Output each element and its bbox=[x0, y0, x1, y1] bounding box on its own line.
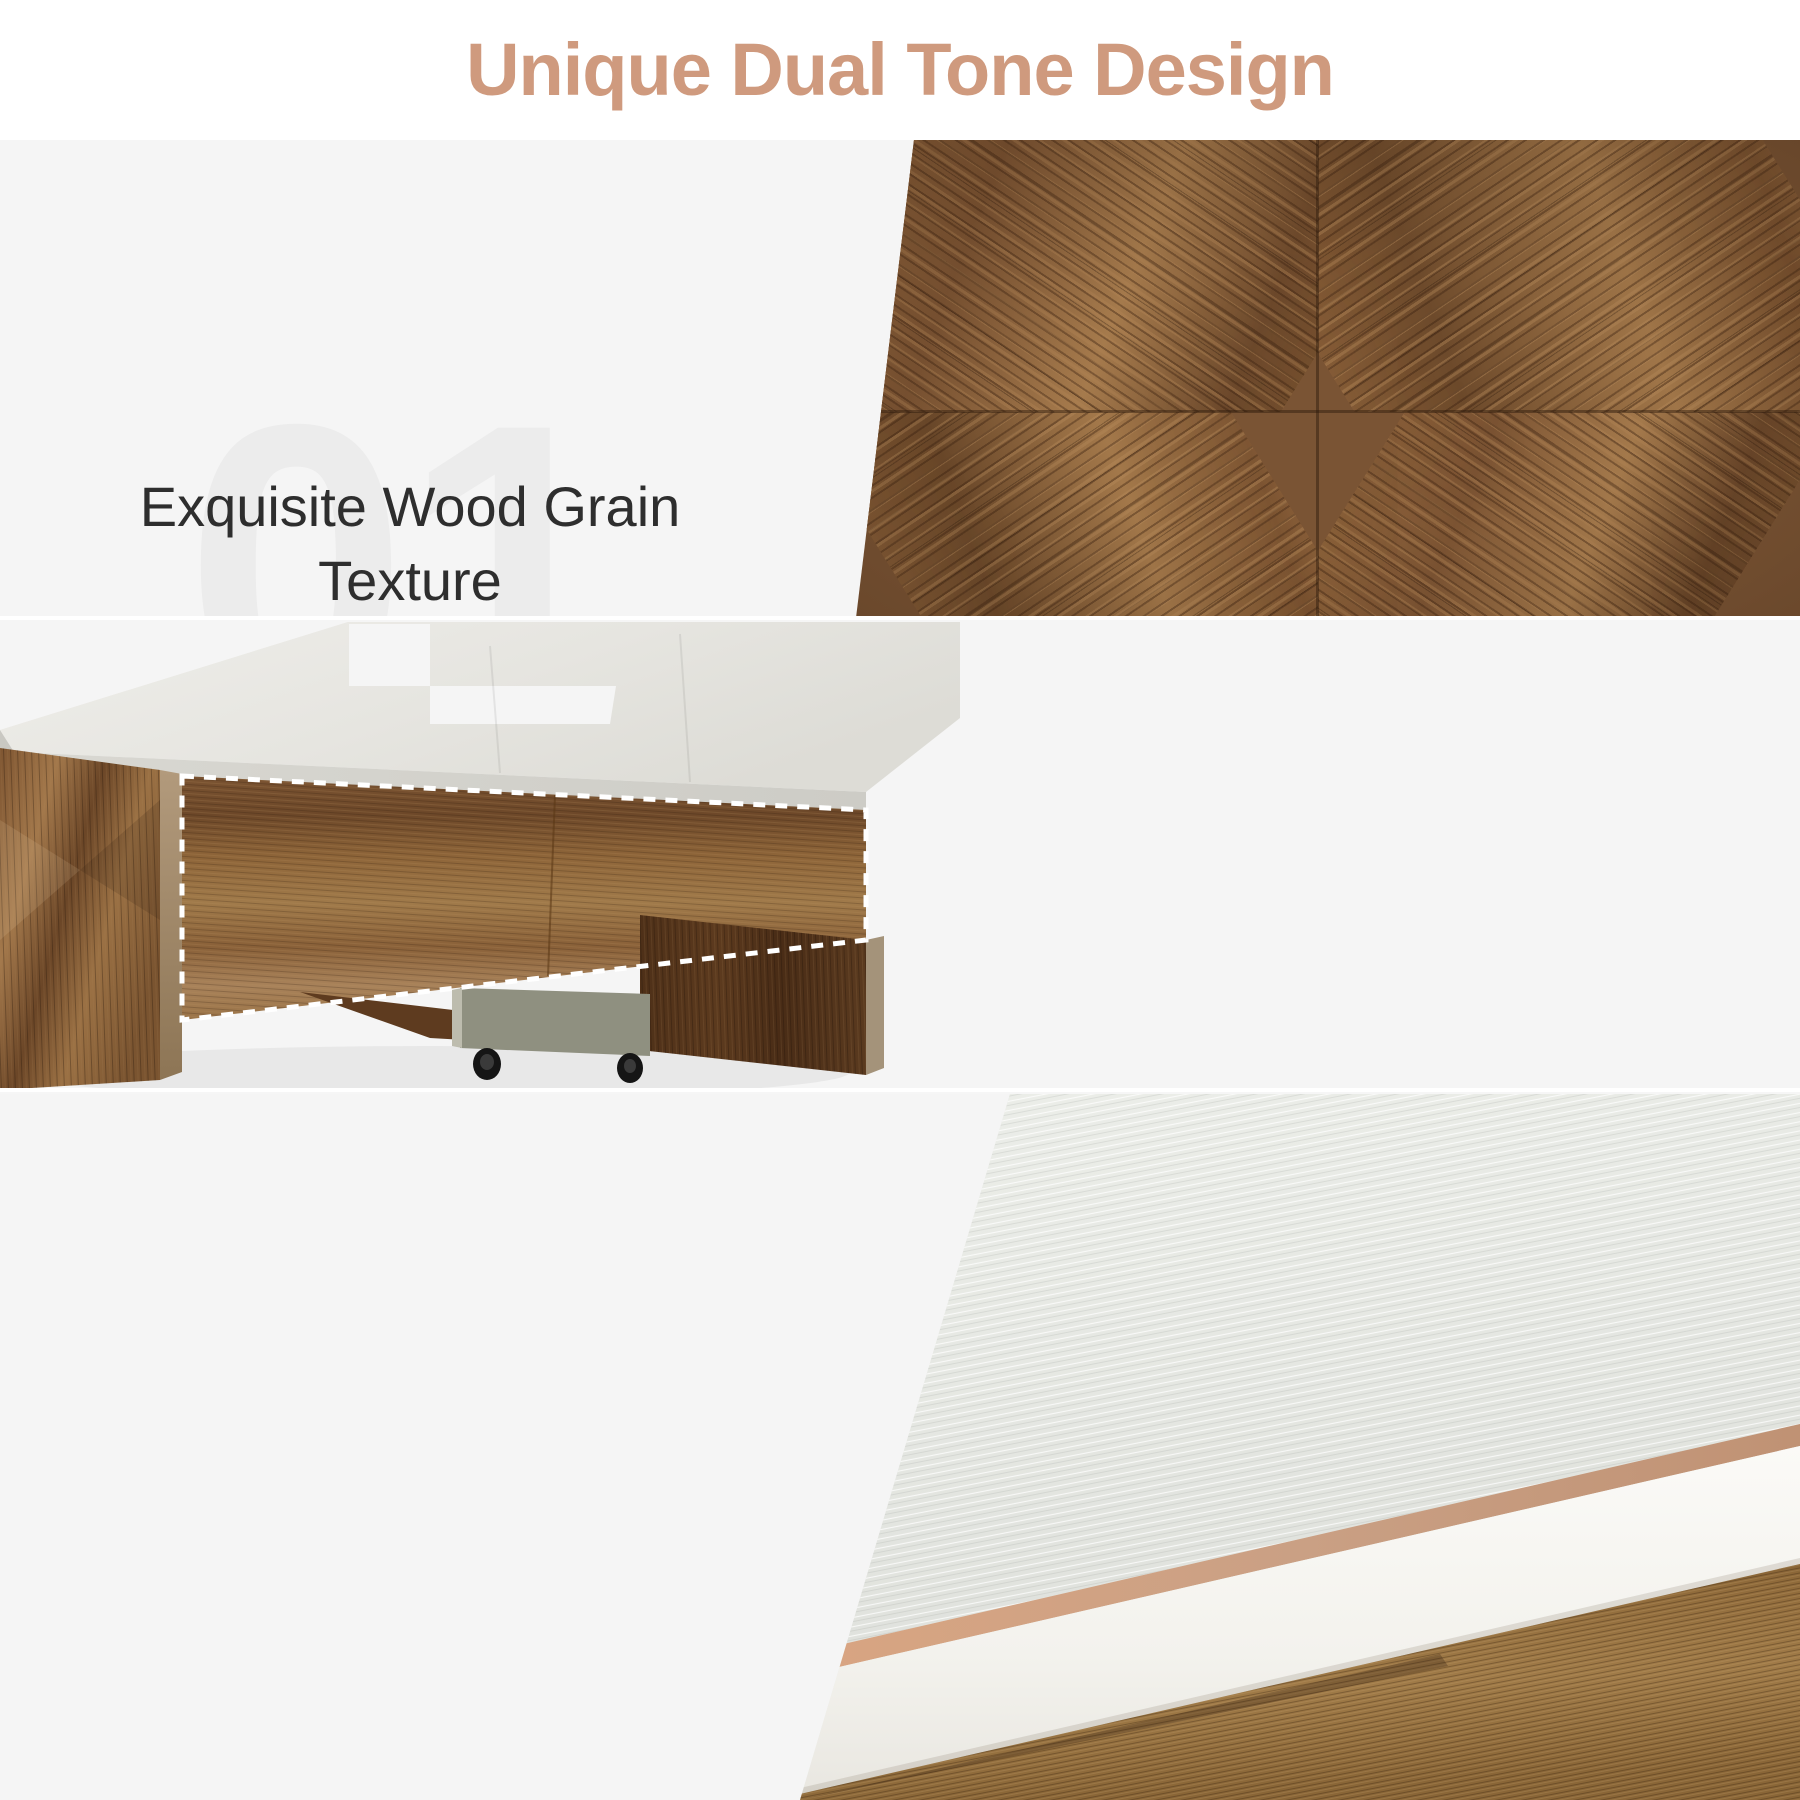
infographic-page: Unique Dual Tone Design 01 Exquisite Woo… bbox=[0, 0, 1800, 1800]
rolling-cabinet-side bbox=[452, 988, 462, 1048]
section-divider-1 bbox=[0, 616, 1800, 620]
feature-caption-01: Exquisite Wood Grain Texture bbox=[60, 470, 760, 618]
desk-photo bbox=[0, 620, 960, 1092]
header-bar: Unique Dual Tone Design bbox=[0, 0, 1800, 140]
page-title: Unique Dual Tone Design bbox=[466, 33, 1334, 107]
feature-section-03: 03 1.18inch Thickened Desktop bbox=[0, 1094, 1800, 1800]
wood-seam-horizontal bbox=[836, 410, 1800, 413]
section-divider-2 bbox=[0, 1088, 1800, 1092]
desk-illustration bbox=[0, 620, 960, 1092]
desk-left-leg-edge-band bbox=[160, 770, 182, 1080]
feature-section-01: 01 Exquisite Wood Grain Texture bbox=[0, 140, 1800, 618]
wood-grain-panel bbox=[836, 140, 1800, 618]
wood-seam-vertical bbox=[1316, 140, 1319, 618]
feature-section-02: 02 Front Privacy Baffle bbox=[0, 620, 1800, 1092]
desktop-edge-closeup bbox=[800, 1094, 1800, 1800]
edge-closeup-illustration bbox=[800, 1094, 1800, 1800]
desk-right-leg-edge-band bbox=[866, 936, 884, 1075]
